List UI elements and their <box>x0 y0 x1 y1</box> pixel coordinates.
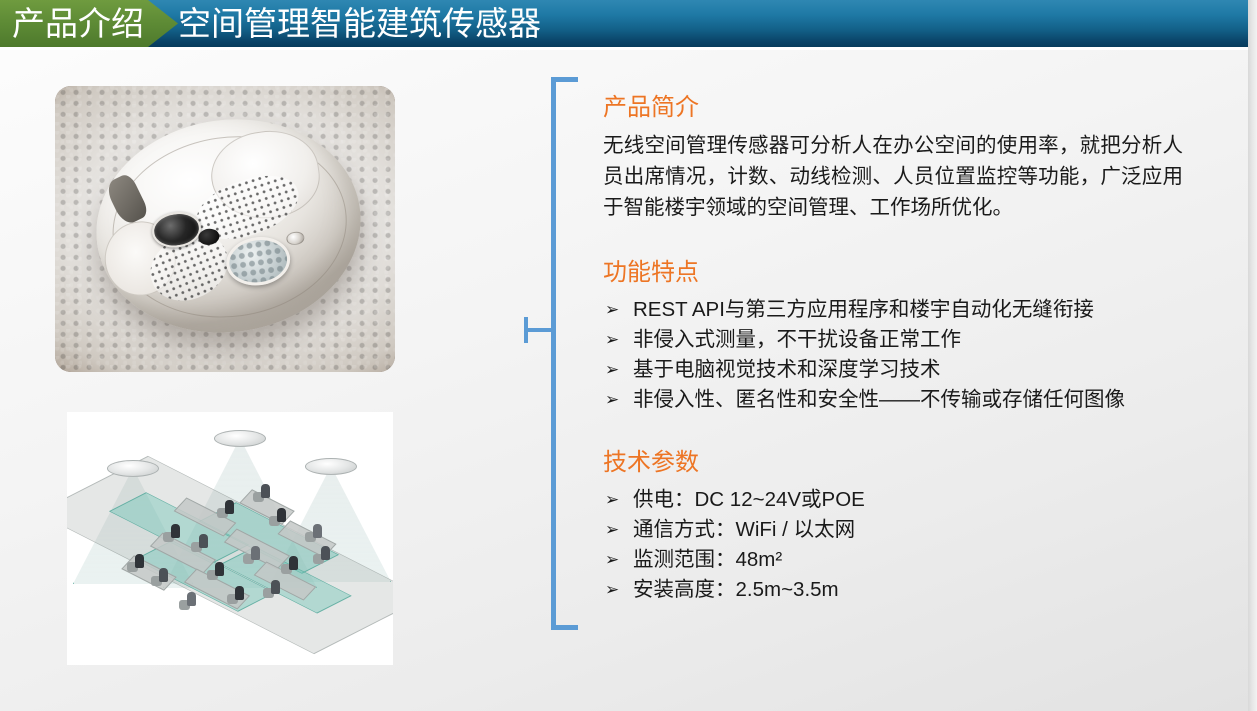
person-figure <box>225 500 234 514</box>
person-figure <box>289 556 298 570</box>
list-item-label: 监测范围：48m² <box>633 548 782 571</box>
bullet-arrow-icon: ➢ <box>605 545 619 575</box>
person-figure <box>187 592 196 606</box>
list-item-label: 基于电脑视觉技术和深度学习技术 <box>633 358 941 381</box>
header-underline <box>0 47 1248 50</box>
feature-list: ➢ REST API与第三方应用程序和楼宇自动化无缝衔接 ➢ 非侵入式测量，不干… <box>603 295 1191 415</box>
section-intro: 产品简介 无线空间管理传感器可分析人在办公空间的使用率，就把分析人员出席情况，计… <box>603 92 1191 223</box>
ceiling-sensor-icon-right <box>305 458 357 475</box>
slide-canvas: 产品介绍 空间管理智能建筑传感器 <box>0 0 1257 711</box>
list-item: ➢ REST API与第三方应用程序和楼宇自动化无缝衔接 <box>603 295 1191 325</box>
person-figure <box>321 546 330 560</box>
person-figure <box>171 524 180 538</box>
list-item: ➢ 供电：DC 12~24V或POE <box>603 485 1191 515</box>
person-figure <box>135 554 144 568</box>
list-item: ➢ 安装高度：2.5m~3.5m <box>603 575 1191 605</box>
list-item: ➢ 监测范围：48m² <box>603 545 1191 575</box>
iso-stage <box>67 412 393 665</box>
list-item-label: 安装高度：2.5m~3.5m <box>633 578 839 601</box>
list-item: ➢ 非侵入性、匿名性和安全性——不传输或存储任何图像 <box>603 385 1191 415</box>
person-figure <box>215 562 224 576</box>
list-item-label: 非侵入式测量，不干扰设备正常工作 <box>633 328 961 351</box>
person-figure <box>271 580 280 594</box>
ceiling-sensor-icon-center <box>214 430 266 447</box>
ceiling-sensor-icon-left <box>107 460 159 477</box>
section-paragraph-intro: 无线空间管理传感器可分析人在办公空间的使用率，就把分析人员出席情况，计数、动线检… <box>603 130 1183 223</box>
bullet-arrow-icon: ➢ <box>605 515 619 545</box>
spacer-intro <box>603 223 1191 257</box>
list-item: ➢ 基于电脑视觉技术和深度学习技术 <box>603 355 1191 385</box>
person-figure <box>235 586 244 600</box>
bullet-arrow-icon: ➢ <box>605 355 619 385</box>
section-features: 功能特点 ➢ REST API与第三方应用程序和楼宇自动化无缝衔接 ➢ 非侵入式… <box>603 257 1191 415</box>
list-item: ➢ 非侵入式测量，不干扰设备正常工作 <box>603 325 1191 355</box>
person-figure <box>277 508 286 522</box>
person-figure <box>313 524 322 538</box>
content-column: 产品简介 无线空间管理传感器可分析人在办公空间的使用率，就把分析人员出席情况，计… <box>603 92 1191 605</box>
person-figure <box>159 568 168 582</box>
bracket-spine <box>551 77 556 630</box>
section-specs: 技术参数 ➢ 供电：DC 12~24V或POE ➢ 通信方式：WiFi / 以太… <box>603 447 1191 605</box>
person-figure <box>251 546 260 560</box>
page-title: 空间管理智能建筑传感器 <box>178 1 541 46</box>
section-heading-intro: 产品简介 <box>603 92 1191 124</box>
list-item-label: 通信方式：WiFi / 以太网 <box>633 518 855 541</box>
person-figure <box>261 484 270 498</box>
header-category-label: 产品介绍 <box>12 1 144 46</box>
list-item-label: 供电：DC 12~24V或POE <box>633 488 865 511</box>
slide-right-edge <box>1248 0 1257 711</box>
list-item-label: 非侵入性、匿名性和安全性——不传输或存储任何图像 <box>633 388 1125 411</box>
content-bracket <box>512 70 584 640</box>
bullet-arrow-icon: ➢ <box>605 485 619 515</box>
bracket-arm-top <box>551 77 578 82</box>
bracket-connector-tick <box>524 317 528 343</box>
list-item: ➢ 通信方式：WiFi / 以太网 <box>603 515 1191 545</box>
section-heading-features: 功能特点 <box>603 257 1191 289</box>
coverage-diagram <box>67 412 393 665</box>
section-heading-specs: 技术参数 <box>603 447 1191 479</box>
bullet-arrow-icon: ➢ <box>605 575 619 605</box>
bracket-connector <box>524 328 554 332</box>
bullet-arrow-icon: ➢ <box>605 325 619 355</box>
list-item-label: REST API与第三方应用程序和楼宇自动化无缝衔接 <box>633 298 1094 321</box>
person-figure <box>199 534 208 548</box>
bullet-arrow-icon: ➢ <box>605 385 619 415</box>
spacer-features <box>603 415 1191 447</box>
header-banner: 产品介绍 空间管理智能建筑传感器 <box>0 0 1248 47</box>
product-photo <box>55 86 395 372</box>
bullet-arrow-icon: ➢ <box>605 295 619 325</box>
bracket-arm-bottom <box>551 625 578 630</box>
spec-list: ➢ 供电：DC 12~24V或POE ➢ 通信方式：WiFi / 以太网 ➢ 监… <box>603 485 1191 605</box>
